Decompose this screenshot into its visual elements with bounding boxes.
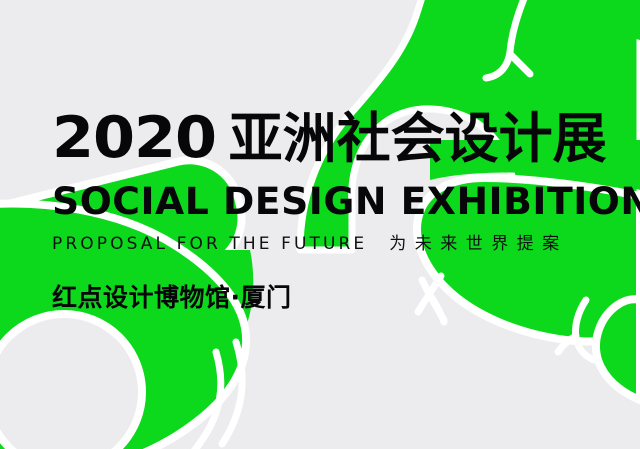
poster-text-layer: 2020 亚洲社会设计展 SOCIAL DESIGN EXHIBITION AS…	[0, 0, 640, 449]
title-english: SOCIAL DESIGN EXHIBITION ASIA	[52, 183, 640, 220]
tagline-english: PROPOSAL FOR THE FUTURE	[52, 236, 367, 253]
poster-canvas: 2020 亚洲社会设计展 SOCIAL DESIGN EXHIBITION AS…	[0, 0, 640, 449]
title-chinese: 亚洲社会设计展	[229, 112, 607, 166]
headline-primary-row: 2020 亚洲社会设计展	[52, 110, 607, 167]
tagline-chinese: 为未来世界提案	[389, 236, 568, 253]
year-text: 2020	[52, 110, 216, 167]
venue-label: 红点设计博物馆·厦门	[52, 285, 292, 310]
subtitle-row: PROPOSAL FOR THE FUTURE 为未来世界提案	[52, 236, 568, 253]
